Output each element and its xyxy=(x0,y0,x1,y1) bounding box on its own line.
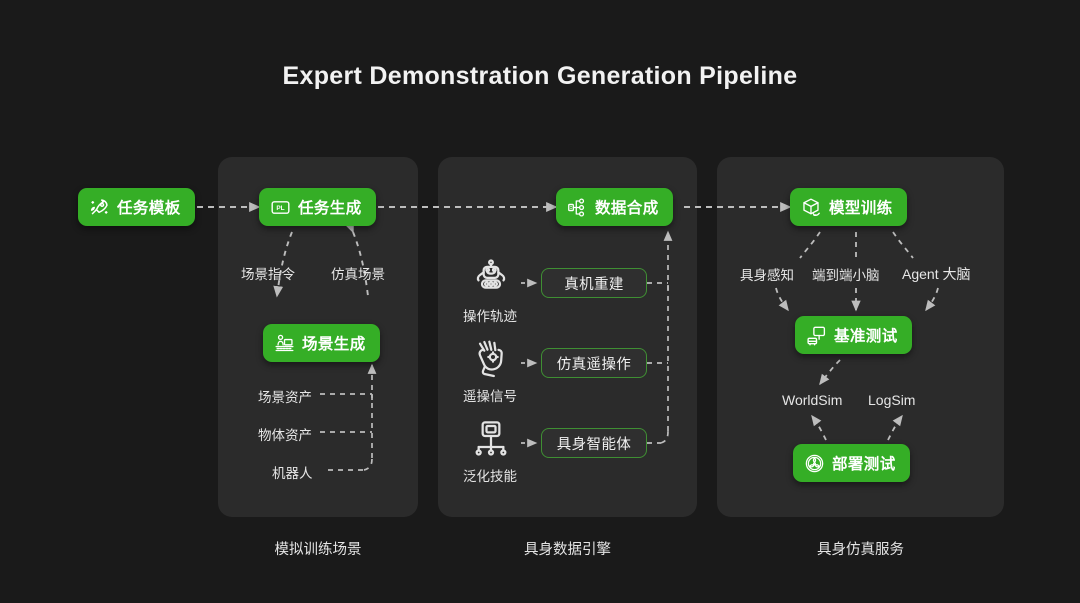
node-model-training[interactable]: 模型训练 xyxy=(790,188,907,226)
source-label-generalized-skill: 泛化技能 xyxy=(463,465,517,485)
diagram-canvas: Expert Demonstration Generation Pipeline xyxy=(0,0,1080,603)
node-label: 部署测试 xyxy=(832,452,896,474)
node-label: 模型训练 xyxy=(829,196,893,218)
box-label: 真机重建 xyxy=(564,273,624,294)
node-label: 基准测试 xyxy=(834,324,898,346)
training-output-end-to-end-cerebellum: 端到端小脑 xyxy=(812,264,880,284)
box-label: 仿真遥操作 xyxy=(557,353,632,374)
cube-arrow-icon xyxy=(801,197,822,218)
node-label: 数据合成 xyxy=(595,196,659,218)
glove-icon xyxy=(471,338,511,378)
box-label: 具身智能体 xyxy=(557,433,632,454)
edge-label-simulated-scene: 仿真场景 xyxy=(331,263,385,283)
caption-panel-1: 模拟训练场景 xyxy=(218,538,418,559)
node-label: 场景生成 xyxy=(302,332,366,354)
node-task-template[interactable]: 任务模板 xyxy=(78,188,195,226)
node-deploy-test[interactable]: 部署测试 xyxy=(793,444,910,482)
caption-panel-2: 具身数据引擎 xyxy=(438,538,697,559)
training-output-agent-brain: Agent 大脑 xyxy=(902,264,970,284)
node-scene-generation[interactable]: 场景生成 xyxy=(263,324,380,362)
sim-target-worldsim: WorldSim xyxy=(782,392,842,408)
source-label-teleop-signal: 遥操信号 xyxy=(463,385,517,405)
edge-label-scene-instruction: 场景指令 xyxy=(241,263,295,283)
data-node-icon xyxy=(567,197,588,218)
node-label: 任务模板 xyxy=(117,196,181,218)
page-title: Expert Demonstration Generation Pipeline xyxy=(0,62,1080,91)
scene-robot-icon xyxy=(274,333,295,354)
node-benchmark-test[interactable]: 基准测试 xyxy=(795,316,912,354)
pl-tag-icon: PL xyxy=(270,197,291,218)
node-label: 任务生成 xyxy=(298,196,362,218)
node-task-generation[interactable]: PL 任务生成 xyxy=(259,188,376,226)
input-label-scene-assets: 场景资产 xyxy=(258,386,312,406)
box-simulated-teleoperation[interactable]: 仿真遥操作 xyxy=(541,348,647,378)
box-embodied-agent[interactable]: 具身智能体 xyxy=(541,428,647,458)
robot-icon xyxy=(471,258,511,298)
monitor-icon xyxy=(806,325,827,346)
source-label-operation-trajectory: 操作轨迹 xyxy=(463,305,517,325)
input-label-object-assets: 物体资产 xyxy=(258,424,312,444)
box-real-machine-reconstruction[interactable]: 真机重建 xyxy=(541,268,647,298)
sim-target-logsim: LogSim xyxy=(868,392,915,408)
network-icon xyxy=(471,418,511,458)
input-label-robot: 机器人 xyxy=(272,462,313,482)
emblem-icon xyxy=(804,453,825,474)
caption-panel-3: 具身仿真服务 xyxy=(717,538,1004,559)
training-output-embodied-perception: 具身感知 xyxy=(740,264,794,284)
node-data-synthesis[interactable]: 数据合成 xyxy=(556,188,673,226)
svg-text:PL: PL xyxy=(276,204,284,211)
rocket-icon xyxy=(89,197,110,218)
